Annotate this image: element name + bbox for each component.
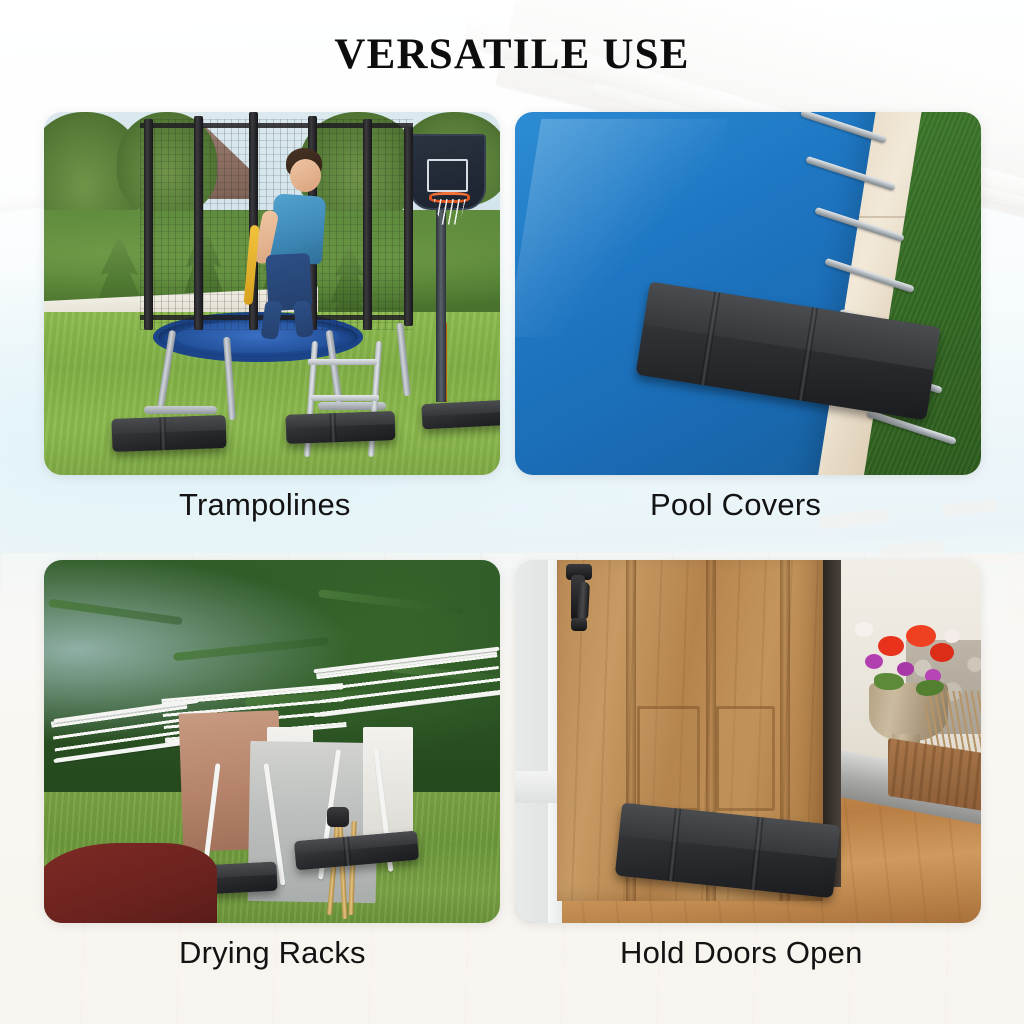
child-leg xyxy=(293,300,314,338)
page-title: VERSATILE USE xyxy=(0,30,1024,79)
enclosure-pole xyxy=(363,119,372,330)
door-panel xyxy=(716,706,774,811)
door-photo xyxy=(515,560,981,923)
torch-head xyxy=(327,807,349,827)
trampoline-photo xyxy=(44,112,500,475)
caption-hold-doors-open: Hold Doors Open xyxy=(515,935,981,971)
weight-bag-product xyxy=(112,415,227,452)
use-case-card-drying-racks[interactable]: Drying Racks xyxy=(44,560,500,923)
white-flower xyxy=(944,629,960,643)
purple-flower xyxy=(865,654,883,669)
branch xyxy=(318,589,463,615)
caption-trampolines: Trampolines xyxy=(44,487,500,523)
use-case-card-trampolines[interactable]: Trampolines xyxy=(44,112,500,475)
garden-chair xyxy=(44,843,217,923)
foliage xyxy=(874,673,904,690)
weight-bag-seam xyxy=(329,413,336,442)
door-handle-icon xyxy=(577,582,590,621)
door-panel xyxy=(637,706,701,811)
weight-bag-top xyxy=(285,411,395,428)
weight-bag-top xyxy=(112,415,226,434)
use-case-grid: Trampolines Pool xyxy=(0,0,1024,1024)
ladder-step xyxy=(311,395,379,401)
trampoline-foot xyxy=(144,406,217,414)
use-case-card-hold-doors-open[interactable]: Hold Doors Open xyxy=(515,560,981,923)
weight-bag-product xyxy=(422,400,500,430)
white-flower xyxy=(855,622,873,637)
ladder-step xyxy=(308,359,376,365)
caption-pool-covers: Pool Covers xyxy=(515,487,981,523)
net-band xyxy=(140,123,414,128)
door-handle-foot xyxy=(571,618,587,631)
backboard-square xyxy=(427,159,468,192)
baseboard xyxy=(515,771,562,804)
branch xyxy=(173,637,329,661)
use-case-card-pool-covers[interactable]: Pool Covers xyxy=(515,112,981,475)
towel-white xyxy=(363,727,413,836)
enclosure-pole xyxy=(194,116,203,330)
weight-bag-product xyxy=(285,411,395,444)
pool-cover-photo xyxy=(515,112,981,475)
drying-rack-photo xyxy=(44,560,500,923)
enclosure-pole xyxy=(144,119,153,330)
branch xyxy=(48,599,183,626)
caption-drying-racks: Drying Racks xyxy=(44,935,500,971)
purple-flower xyxy=(897,662,914,676)
enclosure-pole xyxy=(404,127,413,327)
